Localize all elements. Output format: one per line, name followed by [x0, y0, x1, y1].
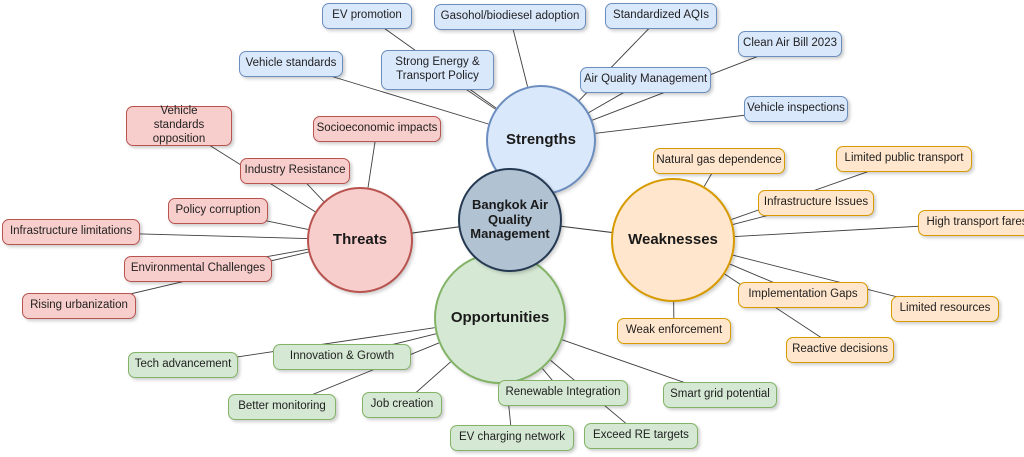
leaf-box-weaknesses-3[interactable]: Infrastructure Issues	[758, 190, 874, 216]
leaf-box-opportunities-7[interactable]: Exceed RE targets	[584, 423, 698, 449]
leaf-box-threats-2[interactable]: Socioeconomic impacts	[313, 116, 441, 142]
leaf-box-weaknesses-1[interactable]: Natural gas dependence	[653, 148, 785, 174]
branch-circle-opportunities[interactable]: Opportunities	[434, 252, 566, 384]
leaf-box-opportunities-4[interactable]: Smart grid potential	[663, 382, 777, 408]
leaf-box-strengths-7[interactable]: Air Quality Management	[580, 67, 711, 93]
leaf-box-weaknesses-6[interactable]: Limited resources	[891, 296, 999, 322]
leaf-box-threats-1[interactable]: Vehicle standards opposition	[126, 106, 232, 146]
leaf-box-strengths-6[interactable]: Strong Energy & Transport Policy	[381, 50, 494, 90]
leaf-box-threats-5[interactable]: Infrastructure limitations	[2, 219, 140, 245]
leaf-box-threats-7[interactable]: Rising urbanization	[22, 293, 136, 319]
leaf-box-weaknesses-7[interactable]: Weak enforcement	[617, 318, 731, 344]
center-circle[interactable]: Bangkok Air Quality Management	[458, 168, 562, 272]
leaf-box-opportunities-2[interactable]: Tech advancement	[128, 352, 238, 378]
leaf-box-opportunities-1[interactable]: Innovation & Growth	[273, 344, 411, 370]
leaf-box-opportunities-8[interactable]: EV charging network	[450, 425, 574, 451]
leaf-box-threats-4[interactable]: Policy corruption	[168, 198, 268, 224]
leaf-box-opportunities-3[interactable]: Renewable Integration	[498, 380, 628, 406]
leaf-box-weaknesses-5[interactable]: Implementation Gaps	[738, 282, 868, 308]
leaf-box-strengths-2[interactable]: Gasohol/biodiesel adoption	[434, 4, 586, 30]
leaf-box-threats-6[interactable]: Environmental Challenges	[124, 256, 272, 282]
leaf-box-weaknesses-8[interactable]: Reactive decisions	[786, 337, 894, 363]
branch-circle-threats[interactable]: Threats	[307, 187, 413, 293]
leaf-box-opportunities-5[interactable]: Job creation	[362, 392, 442, 418]
leaf-box-strengths-1[interactable]: EV promotion	[322, 3, 412, 29]
swot-diagram-canvas: StrengthsEV promotionGasohol/biodiesel a…	[0, 0, 1024, 457]
leaf-box-strengths-8[interactable]: Vehicle inspections	[744, 96, 848, 122]
leaf-box-weaknesses-4[interactable]: High transport fares	[918, 210, 1024, 236]
leaf-box-threats-3[interactable]: Industry Resistance	[240, 158, 350, 184]
leaf-box-strengths-5[interactable]: Vehicle standards	[239, 51, 343, 77]
branch-circle-weaknesses[interactable]: Weaknesses	[611, 178, 735, 302]
leaf-box-opportunities-6[interactable]: Better monitoring	[228, 394, 336, 420]
leaf-box-weaknesses-2[interactable]: Limited public transport	[836, 146, 972, 172]
leaf-box-strengths-4[interactable]: Clean Air Bill 2023	[738, 31, 842, 57]
leaf-box-strengths-3[interactable]: Standardized AQIs	[605, 3, 717, 29]
